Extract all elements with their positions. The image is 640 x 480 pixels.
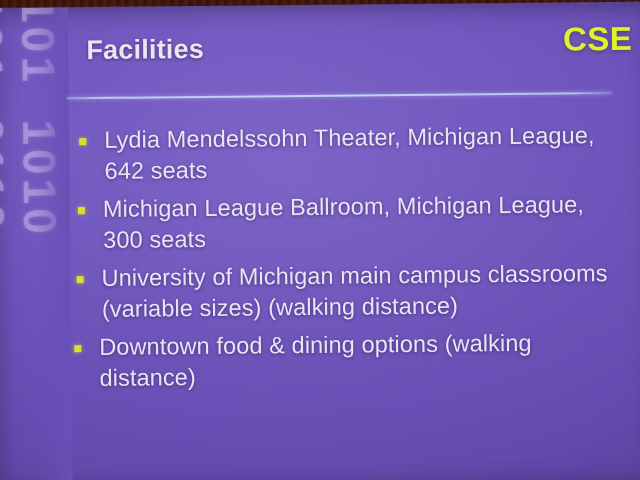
list-item: Downtown food & dining options (walking … (0, 327, 634, 395)
cse-logo: CSE (563, 20, 633, 59)
list-item-label: Michigan League Ballroom, Michigan Leagu… (103, 189, 611, 256)
list-item: Michigan League Ballroom, Michigan Leagu… (0, 189, 632, 257)
projected-slide-photo: 0101 0101 1010 1101 0110 1010 1011 0101 … (0, 0, 640, 480)
slide-content: Facilities CSE Lydia Mendelssohn Theater… (0, 2, 640, 480)
bullet-square-icon (74, 345, 81, 352)
slide-title: Facilities (86, 34, 204, 66)
list-item: University of Michigan main campus class… (0, 258, 633, 326)
projection-surface: 0101 0101 1010 1101 0110 1010 1011 0101 … (0, 2, 640, 480)
title-divider-rule (67, 92, 612, 99)
list-item-label: Lydia Mendelssohn Theater, Michigan Leag… (104, 120, 610, 187)
bullet-square-icon (79, 138, 86, 145)
bullet-square-icon (78, 207, 85, 214)
list-item-label: University of Michigan main campus class… (101, 258, 611, 325)
bullet-list: Lydia Mendelssohn Theater, Michigan Leag… (0, 120, 634, 402)
list-item-label: Downtown food & dining options (walking … (99, 327, 612, 394)
list-item: Lydia Mendelssohn Theater, Michigan Leag… (0, 120, 632, 188)
bullet-square-icon (77, 276, 84, 283)
